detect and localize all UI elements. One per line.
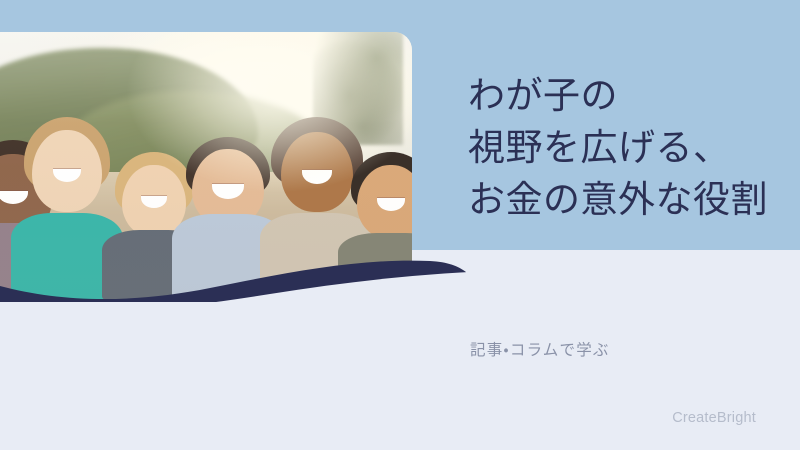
hero-photo [0,32,412,302]
hero-photo-image [0,32,412,302]
title-line-3: お金の意外な役割 [468,174,790,226]
child-shirt [338,233,412,302]
article-card-slide: わが子の 視野を広げる、 お金の意外な役割 記事・コラムで学ぶ CreateBr… [0,0,800,450]
photo-child [336,146,412,302]
subtitle: 記事・コラムで学ぶ [470,338,610,360]
page-title: わが子の 視野を広げる、 お金の意外な役割 [468,70,790,226]
title-line-1: わが子の [468,70,790,122]
brand-name: CreateBright [672,410,756,426]
title-line-2: 視野を広げる、 [468,122,790,174]
photo-children-group [0,91,412,302]
